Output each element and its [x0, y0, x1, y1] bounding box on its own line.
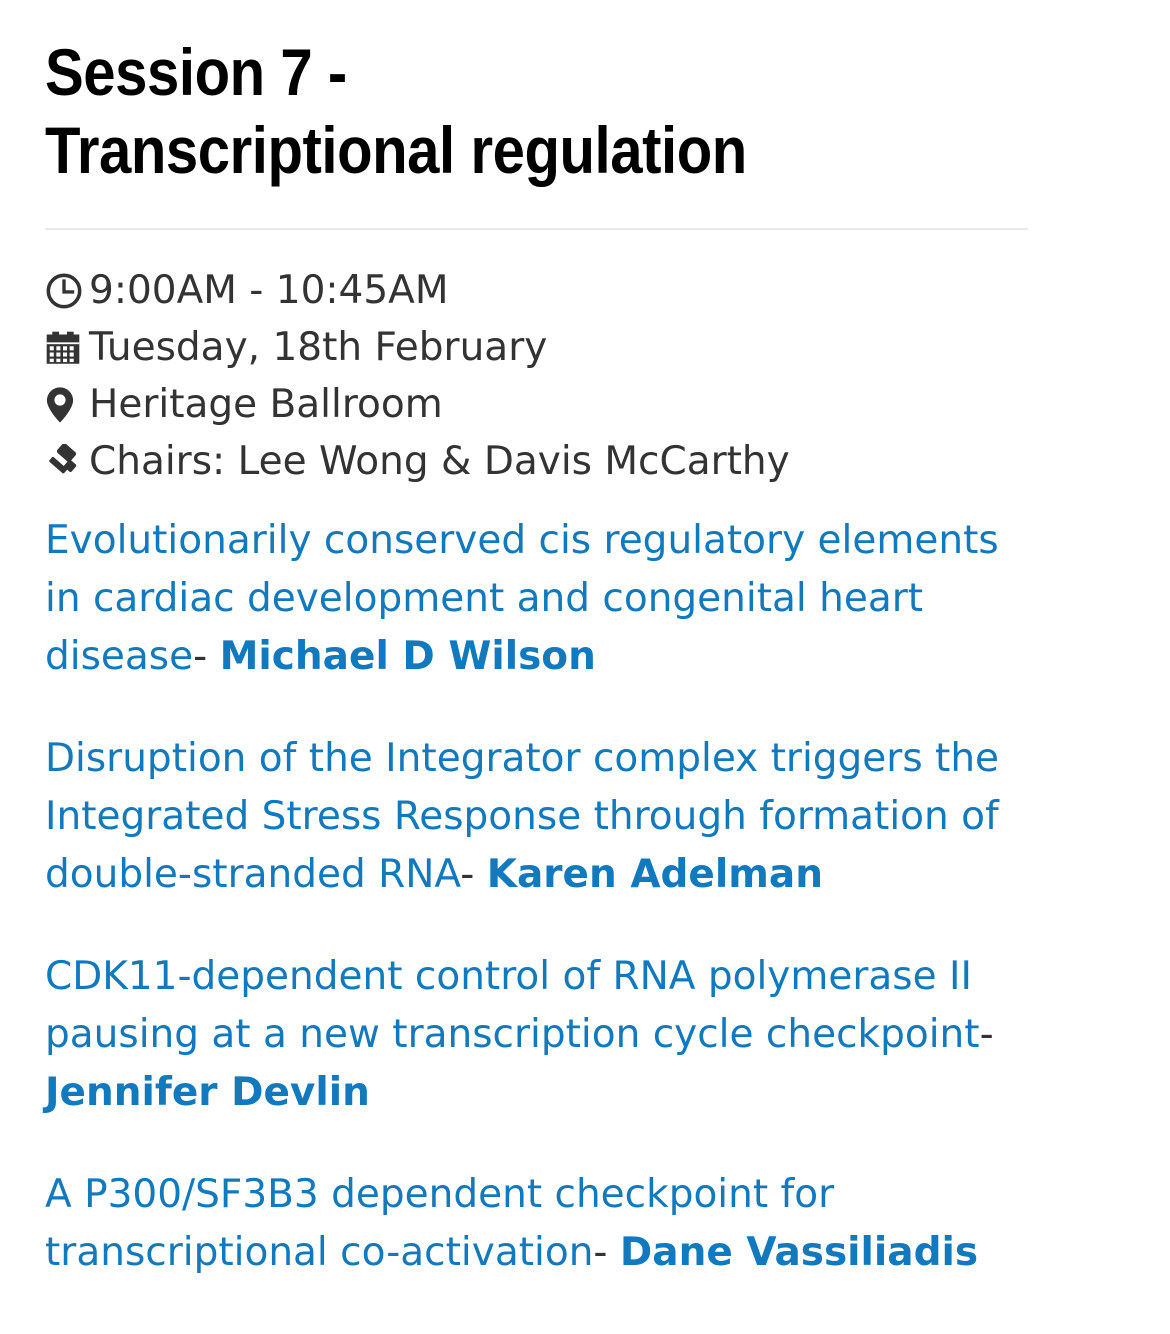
session-detail-page: Session 7 - Transcriptional regulation 9… [0, 0, 1170, 1282]
session-date: Tuesday, 18th February [89, 323, 547, 373]
talk-speaker-link[interactable]: Michael D Wilson [220, 634, 596, 679]
talk-separator: - [593, 1230, 607, 1275]
meta-row-date: Tuesday, 18th February [45, 323, 1125, 380]
session-chairs: Chairs: Lee Wong & Davis McCarthy [89, 437, 790, 487]
talk-speaker-link[interactable]: Jennifer Devlin [45, 1070, 370, 1115]
gavel-icon [45, 437, 89, 481]
meta-row-time: 9:00AM - 10:45AM [45, 266, 1125, 323]
meta-row-chairs: Chairs: Lee Wong & Davis McCarthy [45, 437, 1125, 494]
calendar-icon [45, 323, 89, 367]
talk-line: Evolutionarily conserved cis regulatory … [45, 512, 1030, 686]
talk-item: Evolutionarily conserved cis regulatory … [45, 512, 1125, 686]
talk-separator: - [193, 634, 207, 679]
talk-line: CDK11-dependent control of RNA polymeras… [45, 948, 1030, 1122]
talk-item: A P300/SF3B3 dependent checkpoint for tr… [45, 1166, 1125, 1282]
session-time: 9:00AM - 10:45AM [89, 266, 449, 316]
clock-icon [45, 266, 89, 310]
talk-separator: - [980, 1012, 994, 1057]
talk-title-link[interactable]: CDK11-dependent control of RNA polymeras… [45, 954, 980, 1057]
page-title: Session 7 - Transcriptional regulation [45, 0, 767, 190]
session-location: Heritage Ballroom [89, 380, 443, 430]
map-marker-icon [45, 380, 89, 424]
talk-speaker-link[interactable]: Karen Adelman [487, 852, 823, 897]
talk-line: A P300/SF3B3 dependent checkpoint for tr… [45, 1166, 1030, 1282]
title-divider [45, 228, 1028, 230]
talk-line: Disruption of the Integrator complex tri… [45, 730, 1030, 904]
meta-row-location: Heritage Ballroom [45, 380, 1125, 437]
talk-item: CDK11-dependent control of RNA polymeras… [45, 948, 1125, 1122]
talk-separator: - [460, 852, 474, 897]
talk-speaker-link[interactable]: Dane Vassiliadis [620, 1230, 978, 1275]
session-meta: 9:00AM - 10:45AM [45, 266, 1125, 494]
talk-item: Disruption of the Integrator complex tri… [45, 730, 1125, 904]
talks-list: Evolutionarily conserved cis regulatory … [45, 512, 1125, 1282]
